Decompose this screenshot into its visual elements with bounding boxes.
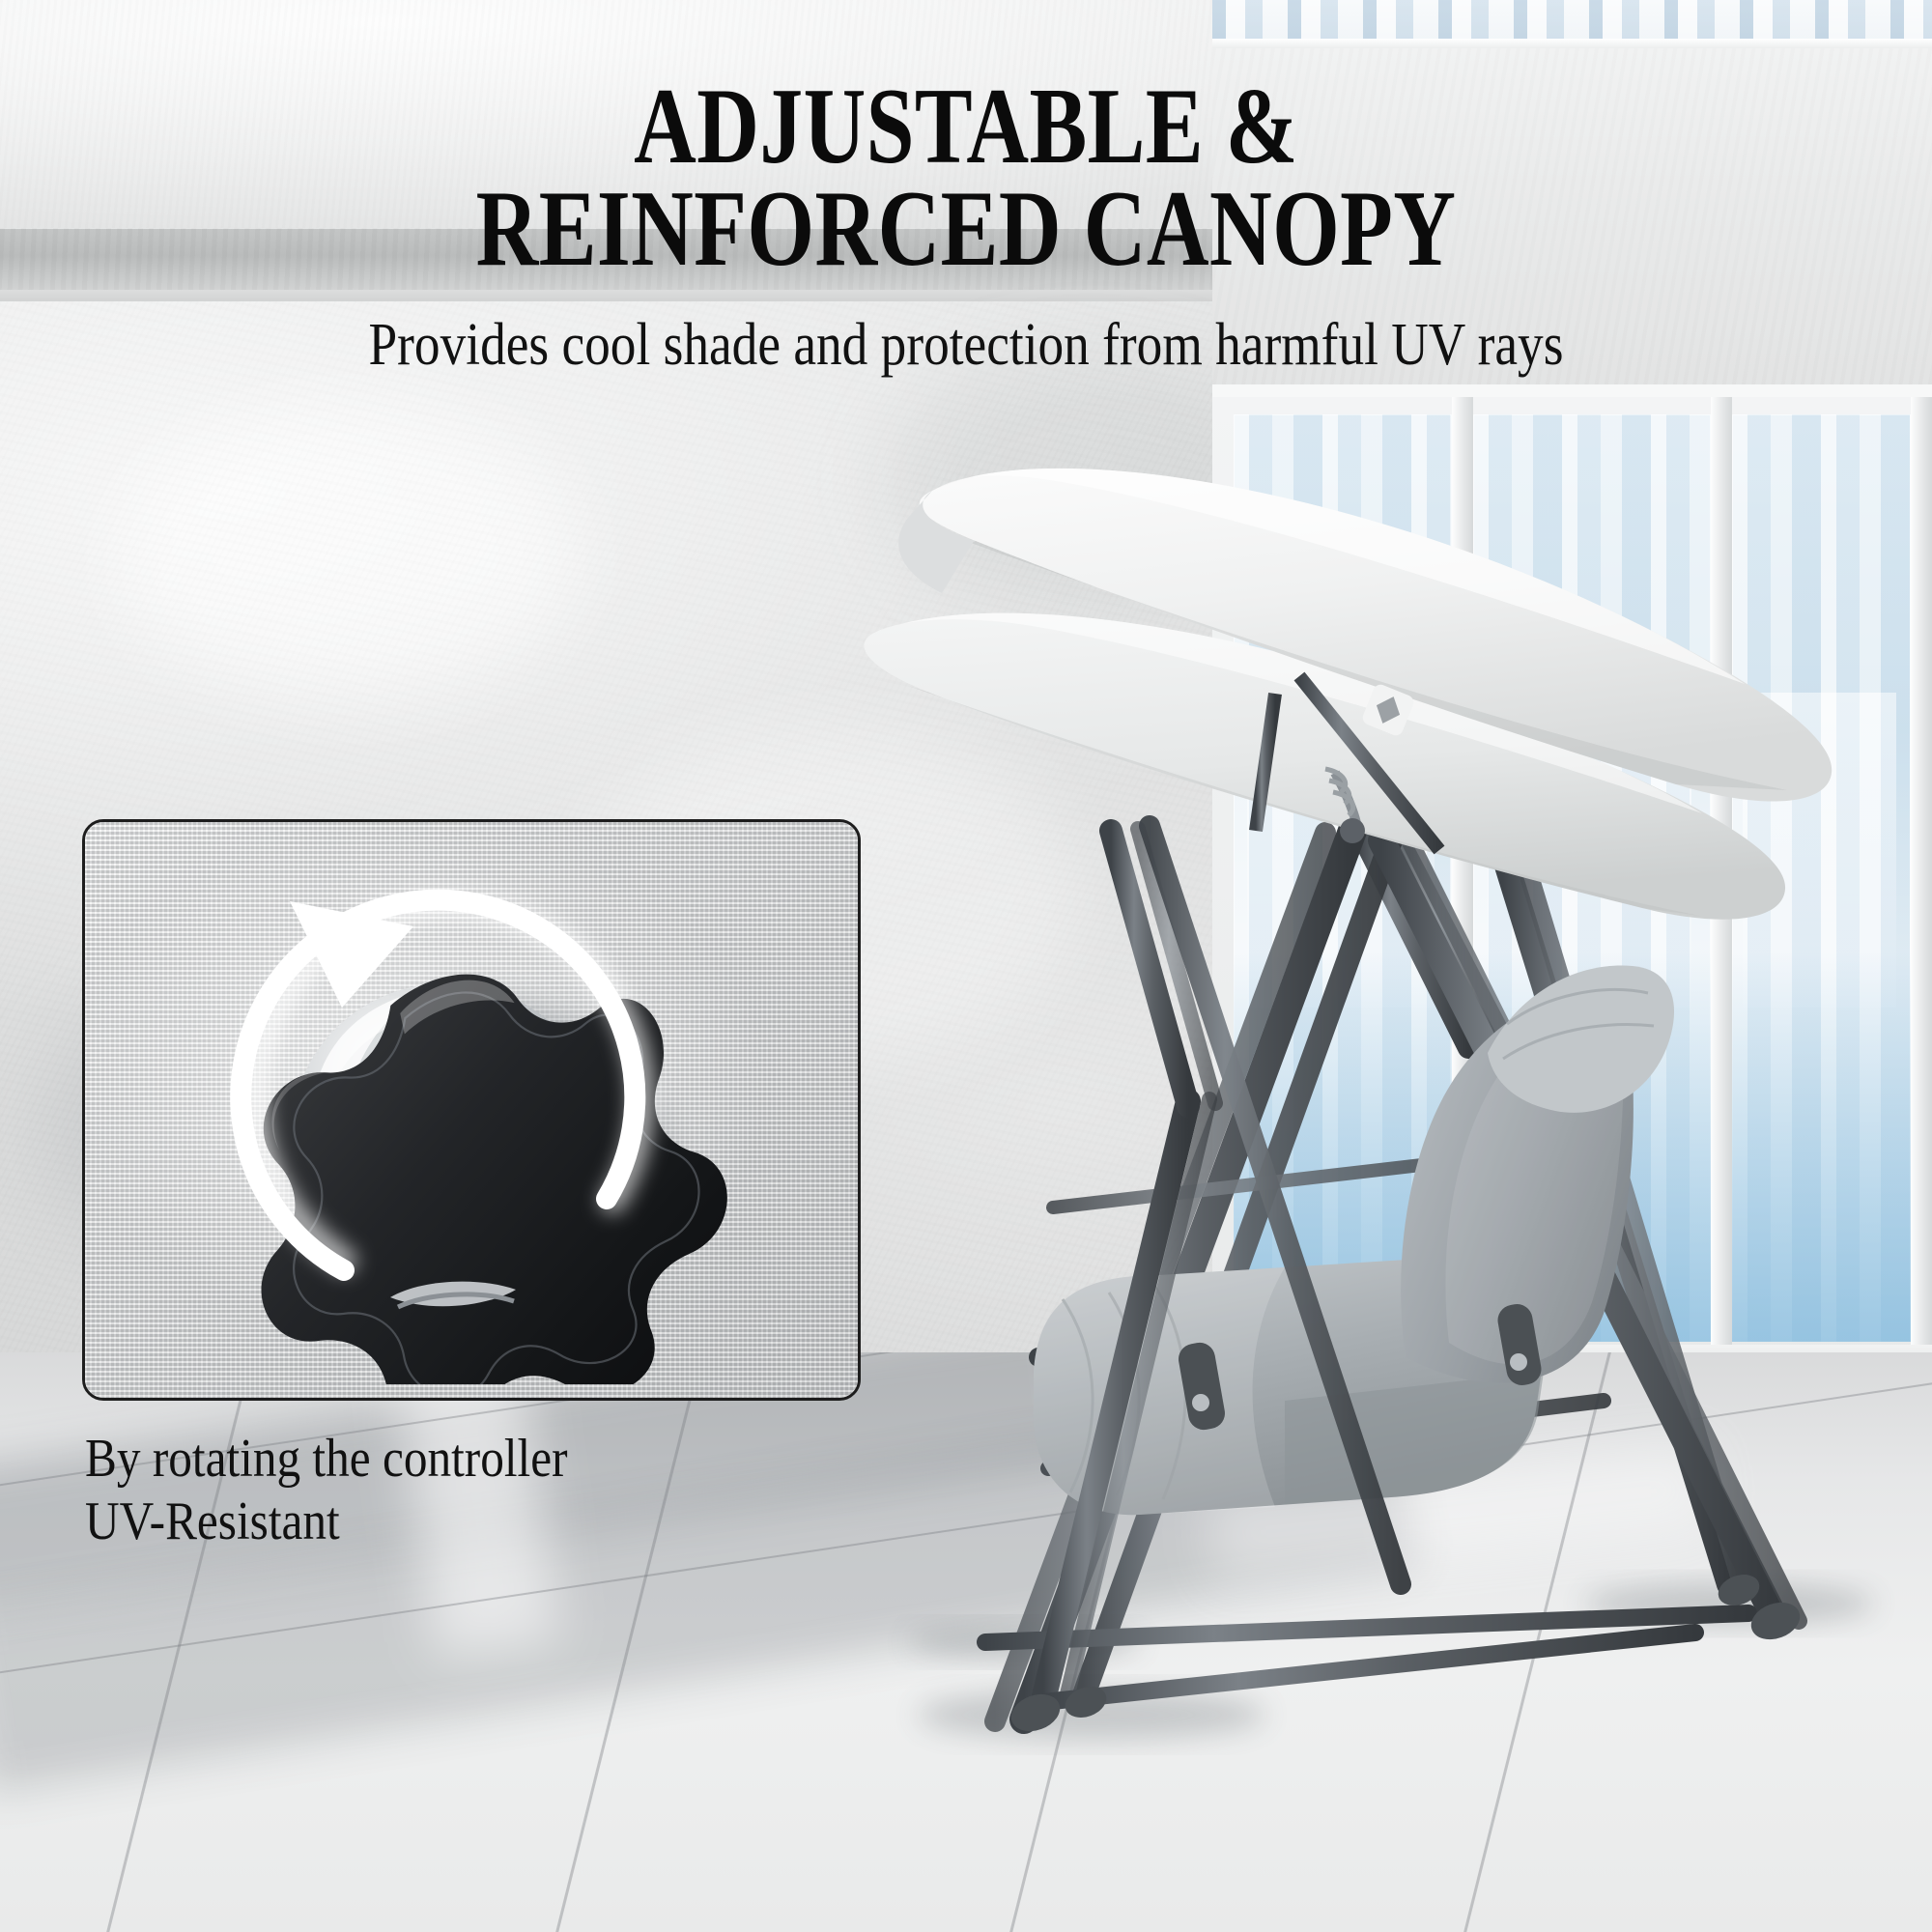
door-mullion-2 (1711, 397, 1732, 1381)
caption-line-2: UV-Resistant (85, 1491, 568, 1553)
headline-line-2: REINFORCED CANOPY (193, 178, 1739, 280)
door-frame (1212, 384, 1932, 1381)
subheadline: Provides cool shade and protection from … (135, 311, 1797, 380)
controller-closeup-callout (82, 819, 861, 1401)
door-pane-1 (1234, 414, 1452, 1342)
knob-illustration (197, 843, 738, 1384)
headline-line-1: ADJUSTABLE & (634, 67, 1298, 186)
door-mullion-1 (1452, 397, 1473, 1381)
callout-caption: By rotating the controller UV-Resistant (85, 1428, 568, 1553)
door-mullion-3 (1911, 397, 1932, 1381)
caption-line-1: By rotating the controller (85, 1428, 568, 1491)
marketing-image-canvas: ADJUSTABLE & REINFORCED CANOPY Provides … (0, 0, 1932, 1932)
upper-curtain (1212, 0, 1932, 39)
page-title: ADJUSTABLE & REINFORCED CANOPY (193, 75, 1739, 281)
upper-head-trim (1212, 39, 1932, 48)
door-pane-3 (1732, 414, 1911, 1342)
door-pane-2 (1473, 414, 1711, 1342)
